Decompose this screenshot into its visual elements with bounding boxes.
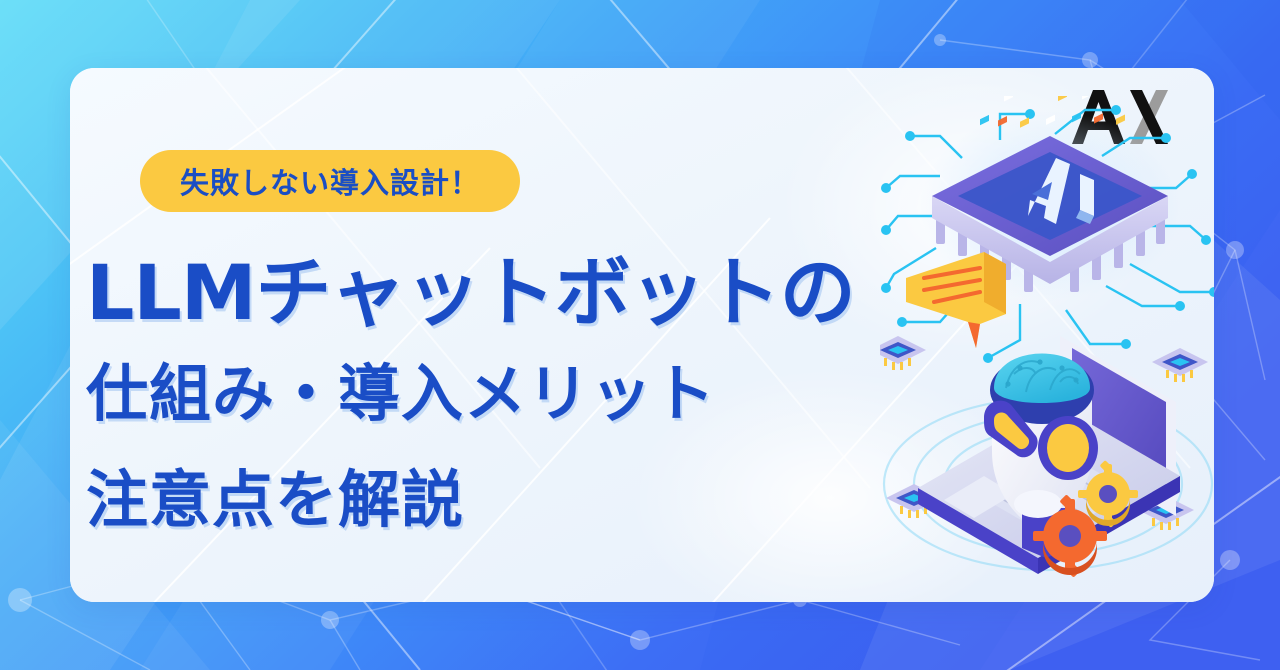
content-card: 失敗しない導入設計！ LLMチャットボットの 仕組み・導入メリット 注意点を解説 <box>70 68 1214 602</box>
page-title: LLMチャットボットの 仕組み・導入メリット 注意点を解説 <box>86 246 855 552</box>
title-line-3: 注意点を解説 <box>86 448 855 552</box>
speech-bubble-icon <box>906 252 1006 348</box>
banner-root: 失敗しない導入設計！ LLMチャットボットの 仕組み・導入メリット 注意点を解説 <box>0 0 1280 670</box>
micro-chip-top-right <box>1152 348 1208 382</box>
ai-illustration-svg <box>880 96 1214 596</box>
badge-label: 失敗しない導入設計！ <box>180 160 480 202</box>
micro-chip-top-left <box>880 336 926 370</box>
title-line-2: 仕組み・導入メリット <box>86 340 855 448</box>
badge-pill: 失敗しない導入設計！ <box>140 150 520 212</box>
title-line-1: LLMチャットボットの <box>86 246 855 340</box>
ai-illustration <box>880 96 1214 596</box>
